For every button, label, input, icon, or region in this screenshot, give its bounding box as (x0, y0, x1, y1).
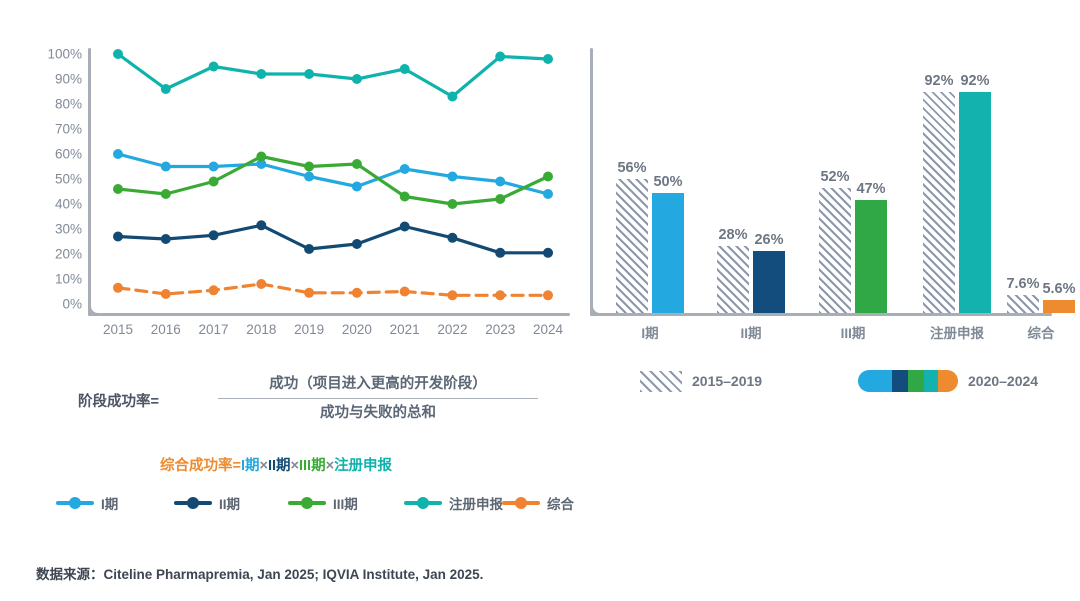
line-data-point (113, 49, 123, 59)
overall-formula-part: × (291, 458, 299, 474)
line-legend-item-I期[interactable]: I期 (56, 490, 118, 516)
line-legend-item-综合[interactable]: 综合 (502, 490, 574, 516)
line-chart-x-axis-labels: 2015201620172018201920202021202220232024 (88, 322, 570, 348)
bar-value-label-solid: 47% (856, 181, 885, 197)
line-chart-x-tick: 2016 (151, 322, 181, 337)
line-chart-y-tick: 90% (30, 72, 82, 86)
line-data-point (209, 162, 219, 172)
line-chart-y-tick: 0% (30, 297, 82, 311)
line-data-point (400, 222, 410, 232)
bar-solid-I期 (652, 193, 684, 313)
line-chart-x-tick: 2017 (199, 322, 229, 337)
line-legend-marker-icon (56, 497, 94, 509)
stage-success-formula: 阶段成功率= 成功（项目进入更高的开发阶段） 成功与失败的总和 (78, 372, 538, 428)
line-data-point (352, 239, 362, 249)
bar-group-综合: 7.6%5.6% (1007, 48, 1075, 313)
line-data-point (495, 177, 505, 187)
pill-segment (924, 370, 938, 392)
line-data-point (400, 64, 410, 74)
line-chart-y-axis-ticks: 0%10%20%30%40%50%60%70%80%90%100% (30, 30, 82, 292)
line-data-point (543, 248, 553, 258)
bar-chart-x-tick: II期 (740, 322, 761, 342)
line-data-point (161, 84, 171, 94)
bar-value-label-solid: 5.6% (1042, 281, 1075, 297)
line-chart-x-tick: 2023 (485, 322, 515, 337)
bar-chart-x-tick: 注册申报 (930, 322, 984, 342)
stage-formula-fraction: 成功（项目进入更高的开发阶段） 成功与失败的总和 (218, 372, 538, 425)
bar-value-label-solid: 26% (754, 232, 783, 248)
bar-value-label-solid: 92% (960, 73, 989, 89)
line-data-point (304, 172, 314, 182)
line-data-point (447, 92, 457, 102)
bar-group-III期: 52%47% (819, 48, 887, 313)
line-data-point (256, 152, 266, 162)
line-chart-y-tick: 30% (30, 222, 82, 236)
line-data-point (304, 288, 314, 298)
line-data-point (256, 220, 266, 230)
line-data-point (543, 290, 553, 300)
line-legend-label: II期 (219, 493, 240, 513)
line-legend-label: I期 (101, 493, 118, 513)
line-legend-label: 综合 (547, 493, 574, 513)
line-data-point (113, 283, 123, 293)
line-legend-label: 注册申报 (449, 493, 503, 513)
bar-chart-x-tick: I期 (641, 322, 658, 342)
line-data-point (209, 285, 219, 295)
line-data-point (495, 194, 505, 204)
bar-legend-label-hatched: 2015–2019 (692, 373, 762, 389)
line-data-point (161, 234, 171, 244)
line-data-point (543, 54, 553, 64)
line-data-point (447, 290, 457, 300)
line-data-point (543, 189, 553, 199)
bar-hatched-综合 (1007, 295, 1039, 313)
bar-hatched-III期 (819, 188, 851, 313)
overall-formula-part: × (260, 458, 268, 474)
line-legend-marker-icon (288, 497, 326, 509)
bar-hatched-I期 (616, 179, 648, 313)
line-data-point (400, 164, 410, 174)
bar-legend-label-solid: 2020–2024 (968, 373, 1038, 389)
line-data-point (495, 52, 505, 62)
bar-group-注册申报: 92%92% (923, 48, 991, 313)
overall-formula-part: II期 (268, 458, 291, 474)
line-chart-legend: I期II期III期注册申报综合 (56, 490, 556, 516)
infographic-page: 0%10%20%30%40%50%60%70%80%90%100% 201520… (0, 0, 1080, 601)
line-series-II期 (118, 225, 548, 253)
line-chart-y-tick: 10% (30, 272, 82, 286)
bar-chart-x-tick: 综合 (1028, 322, 1055, 342)
line-data-point (304, 69, 314, 79)
line-chart-svg (88, 48, 570, 316)
line-chart-y-tick: 60% (30, 147, 82, 161)
line-data-point (113, 149, 123, 159)
line-series-注册申报 (118, 54, 548, 97)
line-data-point (447, 199, 457, 209)
line-data-point (113, 184, 123, 194)
stage-formula-lhs: 阶段成功率= (78, 390, 159, 411)
pill-segment (938, 370, 958, 392)
source-note: 数据来源：Citeline Pharmapremia, Jan 2025; IQ… (36, 563, 483, 583)
line-chart-x-tick: 2022 (437, 322, 467, 337)
overall-formula-part: 注册申报 (334, 458, 392, 474)
pill-segment (908, 370, 924, 392)
line-legend-item-III期[interactable]: III期 (288, 490, 358, 516)
line-chart-y-tick: 80% (30, 97, 82, 111)
bar-hatched-注册申报 (923, 92, 955, 313)
hatched-swatch-icon (640, 371, 682, 392)
line-data-point (304, 162, 314, 172)
line-data-point (352, 182, 362, 192)
line-chart-x-tick: 2024 (533, 322, 563, 337)
line-data-point (256, 69, 266, 79)
bar-solid-III期 (855, 200, 887, 313)
line-chart: 0%10%20%30%40%50%60%70%80%90%100% 201520… (30, 30, 570, 350)
line-legend-item-II期[interactable]: II期 (174, 490, 240, 516)
pill-segment (858, 370, 892, 392)
bar-value-label-solid: 50% (653, 174, 682, 190)
bar-legend-item-2015-2019: 2015–2019 (640, 366, 762, 396)
bar-solid-II期 (753, 251, 785, 313)
line-data-point (400, 192, 410, 202)
bar-value-label-hatched: 7.6% (1006, 276, 1039, 292)
line-data-point (447, 172, 457, 182)
line-chart-x-tick: 2015 (103, 322, 133, 337)
multicolor-pill-icon (858, 370, 958, 392)
stage-formula-divider (218, 398, 538, 399)
line-data-point (209, 62, 219, 72)
overall-formula-part: I期 (241, 458, 260, 474)
line-data-point (113, 232, 123, 242)
line-data-point (447, 233, 457, 243)
line-data-point (161, 289, 171, 299)
line-legend-marker-icon (174, 497, 212, 509)
line-data-point (256, 279, 266, 289)
bar-value-label-hatched: 52% (820, 169, 849, 185)
line-legend-label: III期 (333, 493, 358, 513)
line-chart-y-tick: 70% (30, 122, 82, 136)
bar-chart-plot-area: 56%50%28%26%52%47%92%92%7.6%5.6% (593, 48, 1052, 313)
line-chart-x-tick: 2020 (342, 322, 372, 337)
line-data-point (161, 162, 171, 172)
bar-chart-x-tick: III期 (841, 322, 866, 342)
line-series-综合 (118, 284, 548, 295)
bar-group-II期: 28%26% (717, 48, 785, 313)
line-data-point (352, 288, 362, 298)
overall-formula-part: × (326, 458, 334, 474)
bar-solid-综合 (1043, 300, 1075, 313)
line-data-point (352, 159, 362, 169)
line-chart-plot-area (88, 48, 570, 316)
line-legend-marker-icon (502, 497, 540, 509)
bar-value-label-hatched: 56% (617, 160, 646, 176)
line-data-point (495, 290, 505, 300)
line-data-point (400, 287, 410, 297)
bar-solid-注册申报 (959, 92, 991, 313)
bar-value-label-hatched: 92% (924, 73, 953, 89)
overall-formula-part: III期 (299, 458, 326, 474)
bar-value-label-hatched: 28% (718, 227, 747, 243)
line-data-point (543, 172, 553, 182)
stage-formula-numerator: 成功（项目进入更高的开发阶段） (218, 372, 538, 396)
line-chart-x-tick: 2018 (246, 322, 276, 337)
bar-group-I期: 56%50% (616, 48, 684, 313)
overall-formula-lhs: 综合成功率= (160, 458, 241, 474)
bar-chart-x-axis-labels: I期II期III期注册申报综合 (593, 322, 1052, 348)
bar-hatched-II期 (717, 246, 749, 313)
line-data-point (495, 248, 505, 258)
line-legend-marker-icon (404, 497, 442, 509)
bar-chart: 56%50%28%26%52%47%92%92%7.6%5.6% I期II期II… (588, 30, 1058, 350)
line-chart-y-tick: 50% (30, 172, 82, 186)
line-legend-item-注册申报[interactable]: 注册申报 (404, 490, 503, 516)
line-chart-y-tick: 40% (30, 197, 82, 211)
bar-legend-item-2020-2024: 2020–2024 (858, 366, 1038, 396)
line-chart-x-tick: 2021 (390, 322, 420, 337)
line-data-point (209, 177, 219, 187)
line-data-point (161, 189, 171, 199)
pill-segment (892, 370, 908, 392)
line-data-point (352, 74, 362, 84)
line-data-point (209, 230, 219, 240)
stage-formula-denominator: 成功与失败的总和 (218, 401, 538, 425)
line-data-point (304, 244, 314, 254)
line-chart-y-tick: 20% (30, 247, 82, 261)
line-chart-x-tick: 2019 (294, 322, 324, 337)
overall-success-formula: 综合成功率=I期×II期×III期×注册申报 (160, 454, 580, 475)
line-chart-y-tick: 100% (30, 47, 82, 61)
bar-chart-x-axis (590, 313, 1052, 316)
bar-chart-legend: 2015–2019 2020–2024 (640, 366, 1040, 396)
